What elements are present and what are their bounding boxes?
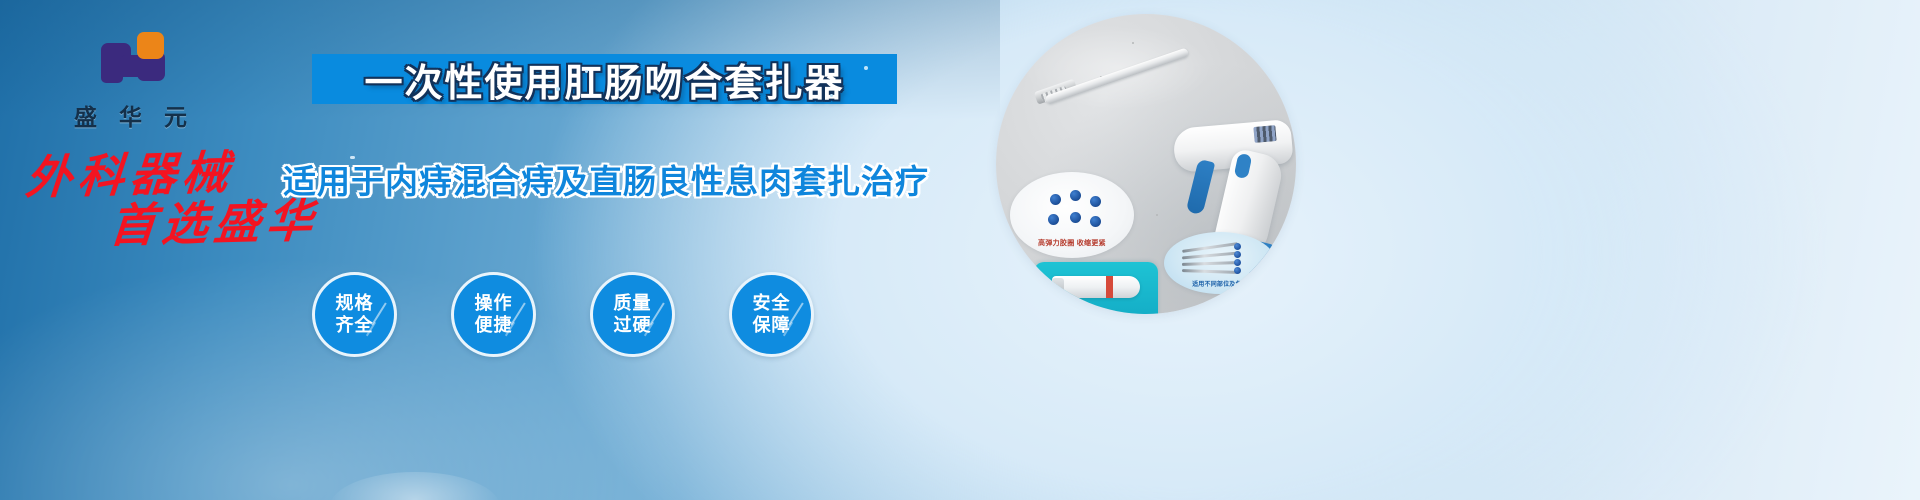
sparkle-icon bbox=[830, 94, 833, 97]
main-title-banner: 一次性使用肛肠吻合套扎器 bbox=[312, 54, 897, 104]
feature-badge-specifications[interactable]: 规格 齐全 bbox=[312, 272, 397, 357]
probe-rod-head bbox=[1234, 267, 1241, 274]
feature-badge-safety[interactable]: 安全 保障 bbox=[729, 272, 814, 357]
badge-label-line1: 规格 bbox=[336, 293, 374, 314]
inset-bands-caption: 高弹力胶圈 收缩更紧 bbox=[1010, 238, 1134, 248]
badge-label-line2: 保障 bbox=[753, 315, 791, 336]
inset-device-panel bbox=[1034, 262, 1158, 314]
badge-label-line2: 便捷 bbox=[475, 315, 513, 336]
photo-speck bbox=[1156, 214, 1158, 216]
product-photo: 高弹力胶圈 收缩更紧 适用不同部位及角度 bbox=[996, 14, 1296, 314]
rubber-band-icon bbox=[1090, 216, 1101, 227]
page-title: 一次性使用肛肠吻合套扎器 bbox=[312, 54, 897, 104]
badge-label-line1: 安全 bbox=[753, 293, 791, 314]
probe-rod bbox=[1182, 261, 1238, 266]
badge-label-line1: 质量 bbox=[614, 293, 652, 314]
sparkle-icon bbox=[556, 87, 560, 91]
feature-badge-operation[interactable]: 操作 便捷 bbox=[451, 272, 536, 357]
badge-label-line2: 过硬 bbox=[614, 315, 652, 336]
calligraphy-line-2: 首选盛华 bbox=[108, 197, 320, 248]
device-cap bbox=[1052, 278, 1064, 296]
rubber-band-icon bbox=[1070, 212, 1081, 223]
ligation-device-closeup bbox=[1052, 276, 1140, 298]
photo-speck bbox=[1132, 42, 1134, 44]
shenghuayuan-logo-mark bbox=[97, 30, 171, 92]
inset-rubber-bands: 高弹力胶圈 收缩更紧 bbox=[1010, 172, 1134, 258]
probe-rod-head bbox=[1234, 259, 1241, 266]
applicator-label bbox=[1253, 125, 1276, 143]
brand-logo[interactable]: 盛 华 元 bbox=[68, 30, 200, 132]
calligraphy-line-1: 外科器械 bbox=[24, 149, 236, 200]
probe-rod-head bbox=[1234, 243, 1241, 250]
sparkle-icon bbox=[864, 66, 868, 70]
rubber-band-icon bbox=[1050, 194, 1061, 205]
badge-label-line1: 操作 bbox=[475, 293, 513, 314]
probe-rod bbox=[1182, 252, 1238, 260]
feature-badge-row: 规格 齐全 操作 便捷 质量 过硬 安全 保障 bbox=[312, 272, 912, 372]
sparkle-icon bbox=[585, 70, 588, 73]
subtitle: 适用于内痔混合痔及直肠良性息肉套扎治疗 bbox=[296, 158, 916, 200]
rubber-band-icon bbox=[1070, 190, 1081, 201]
rubber-band-icon bbox=[1048, 214, 1059, 225]
badge-label-line2: 齐全 bbox=[336, 315, 374, 336]
bottom-glow-ellipse bbox=[330, 472, 500, 500]
device-band-marker bbox=[1106, 276, 1113, 298]
brand-name: 盛 华 元 bbox=[68, 98, 200, 132]
inset-probe-rods: 适用不同部位及角度 bbox=[1164, 232, 1276, 294]
probe-rod-head bbox=[1234, 251, 1241, 258]
inset-rods-caption: 适用不同部位及角度 bbox=[1164, 279, 1276, 288]
feature-badge-quality[interactable]: 质量 过硬 bbox=[590, 272, 675, 357]
probe-rod bbox=[1182, 269, 1238, 274]
rubber-band-icon bbox=[1090, 196, 1101, 207]
